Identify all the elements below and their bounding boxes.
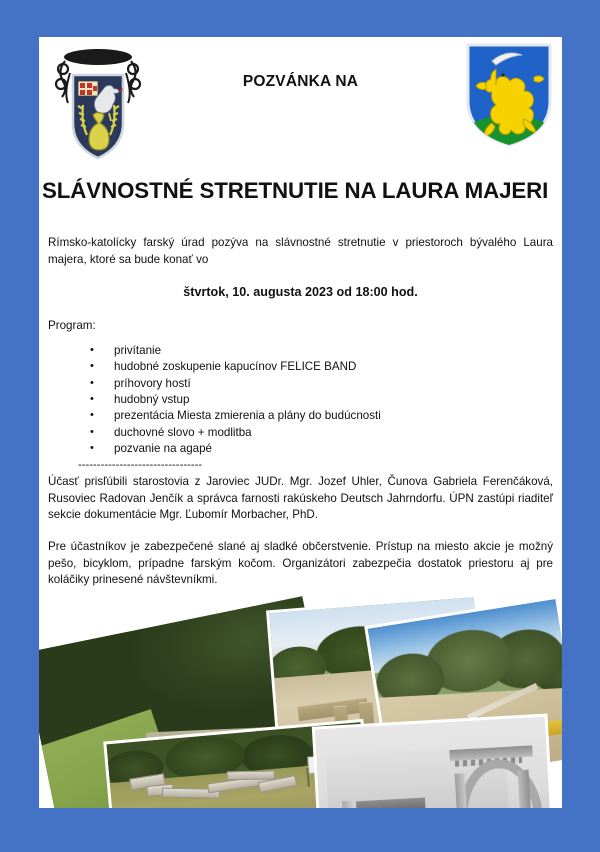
poster-body: Rímsko-katolícky farský úrad pozýva na s… (39, 235, 562, 589)
guests-paragraph: Účasť prisľúbili starostovia z Jaroviec … (48, 474, 553, 524)
program-label: Program: (48, 319, 553, 332)
photo-historic-building (315, 717, 553, 808)
poster-title: SLÁVNOSTNÉ STRETNUTIE NA LAURA MAJERI (42, 178, 562, 204)
list-item: príhovory hostí (90, 376, 553, 392)
list-item: privítanie (90, 343, 553, 359)
list-item: hudobný vstup (90, 392, 553, 408)
separator-dashes: --------------------------------- (78, 459, 553, 471)
municipal-coat-of-arms-icon (462, 39, 556, 149)
program-list: privítanie hudobné zoskupenie kapucínov … (48, 343, 553, 457)
list-item: prezentácia Miesta zmierenia a plány do … (90, 408, 553, 424)
photo-collage (39, 605, 562, 808)
list-item: pozvanie na agapé (90, 441, 553, 457)
parish-coat-of-arms-icon (39, 39, 157, 166)
event-date-line: štvrtok, 10. augusta 2023 od 18:00 hod. (48, 285, 553, 299)
poster-header: POZVÁNKA NA (39, 37, 562, 164)
list-item: hudobné zoskupenie kapucínov FELICE BAND (90, 359, 553, 375)
poster-page: POZVÁNKA NA (39, 37, 562, 808)
list-item: duchovné slovo + modlitba (90, 425, 553, 441)
info-paragraph: Pre účastníkov je zabezpečené slané aj s… (48, 539, 553, 589)
intro-paragraph: Rímsko-katolícky farský úrad pozýva na s… (48, 235, 553, 268)
